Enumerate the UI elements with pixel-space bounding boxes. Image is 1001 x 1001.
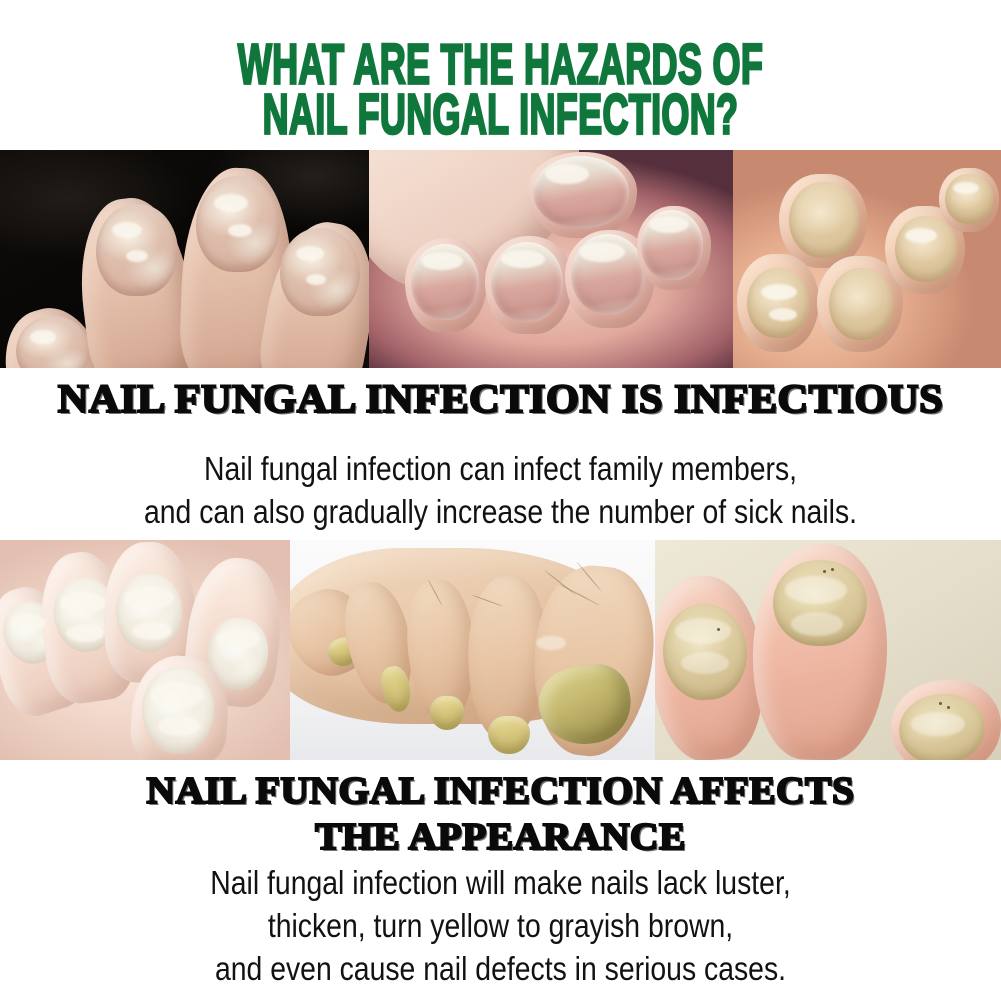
section-2-heading: NAIL FUNGAL INFECTION AFFECTS THE APPEAR…: [0, 772, 1001, 856]
poster-title: WHAT ARE THE HAZARDS OF NAIL FUNGAL INFE…: [0, 36, 1001, 132]
section-2-body-line-3: and even cause nail defects in serious c…: [70, 948, 931, 991]
section-2-heading-line-2: THE APPEARANCE: [0, 818, 1001, 856]
nail-plate: [280, 228, 360, 316]
keratin-debris: [214, 194, 248, 212]
photo-toenails-beige-background: [655, 540, 1001, 760]
keratin-debris: [228, 224, 252, 237]
keratin-debris: [681, 652, 729, 674]
infographic-poster: WHAT ARE THE HAZARDS OF NAIL FUNGAL INFE…: [0, 0, 1001, 1001]
title-line-2: NAIL FUNGAL INFECTION?: [100, 86, 901, 143]
keratin-debris: [306, 274, 326, 285]
keratin-debris: [545, 164, 589, 184]
dark-pigment-dot: [823, 570, 826, 573]
section-1-body-line-2: and can also gradually increase the numb…: [70, 491, 931, 534]
keratin-debris: [649, 216, 689, 233]
keratin-debris: [675, 618, 731, 644]
dark-pigment-dot: [947, 706, 950, 709]
keratin-debris: [216, 628, 260, 650]
keratin-debris: [953, 182, 979, 194]
section-1-heading: NAIL FUNGAL INFECTION IS INFECTIOUS: [0, 379, 1001, 419]
keratin-debris: [785, 576, 847, 604]
photo-fingernails-dark-background: [0, 150, 369, 368]
keratin-debris: [30, 330, 56, 344]
dark-pigment-dot: [939, 702, 942, 705]
photo-toenails-peach-tones: [733, 150, 1001, 368]
keratin-debris: [124, 586, 174, 610]
keratin-debris: [911, 712, 965, 736]
photo-fingernails-pink-tones: [369, 150, 733, 368]
keratin-debris: [501, 250, 545, 268]
keratin-debris: [579, 242, 625, 262]
nail-plate: [142, 668, 214, 754]
keratin-debris: [10, 614, 46, 632]
section-1-body: Nail fungal infection can infect family …: [0, 448, 1001, 534]
keratin-debris: [905, 228, 937, 243]
keratin-debris: [150, 682, 204, 708]
section-2-body-line-1: Nail fungal infection will make nails la…: [70, 862, 931, 905]
nail-plate: [747, 268, 809, 338]
section-2-body: Nail fungal infection will make nails la…: [0, 862, 1001, 991]
keratin-debris: [158, 716, 200, 736]
keratin-debris: [296, 246, 324, 261]
photo-strip-bottom: [0, 540, 1001, 760]
keratin-debris: [60, 592, 106, 614]
keratin-debris: [536, 636, 566, 650]
keratin-debris: [126, 250, 148, 262]
keratin-debris: [421, 252, 463, 270]
photo-strip-top: [0, 150, 1001, 368]
section-2-body-line-2: thicken, turn yellow to grayish brown,: [70, 905, 931, 948]
dark-pigment-dot: [717, 628, 720, 631]
keratin-debris: [132, 622, 172, 640]
keratin-debris: [761, 284, 797, 300]
nail-plate: [895, 216, 957, 282]
section-1-body-line-1: Nail fungal infection can infect family …: [70, 448, 931, 491]
keratin-debris: [112, 222, 142, 238]
dark-pigment-dot: [831, 568, 834, 571]
section-2-heading-line-1: NAIL FUNGAL INFECTION AFFECTS: [0, 772, 1001, 810]
nail-plate: [829, 268, 893, 340]
keratin-debris: [66, 624, 104, 642]
nail-plate: [789, 182, 859, 258]
keratin-debris: [791, 612, 843, 636]
keratin-debris: [769, 308, 797, 321]
photo-foot-yellow-toenails: [290, 540, 655, 760]
photo-fingernails-white-crumbly: [0, 540, 290, 760]
